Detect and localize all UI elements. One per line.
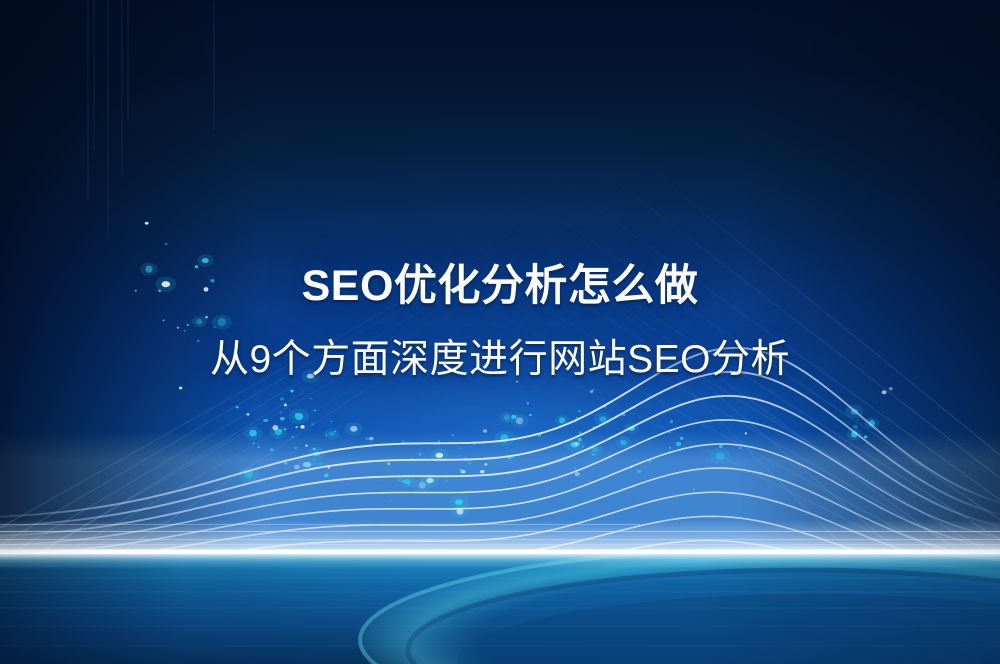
banner-image: SEO优化分析怎么做 从9个方面深度进行网站SEO分析 — [0, 0, 1000, 664]
horizon-glow-layer — [0, 0, 1000, 664]
